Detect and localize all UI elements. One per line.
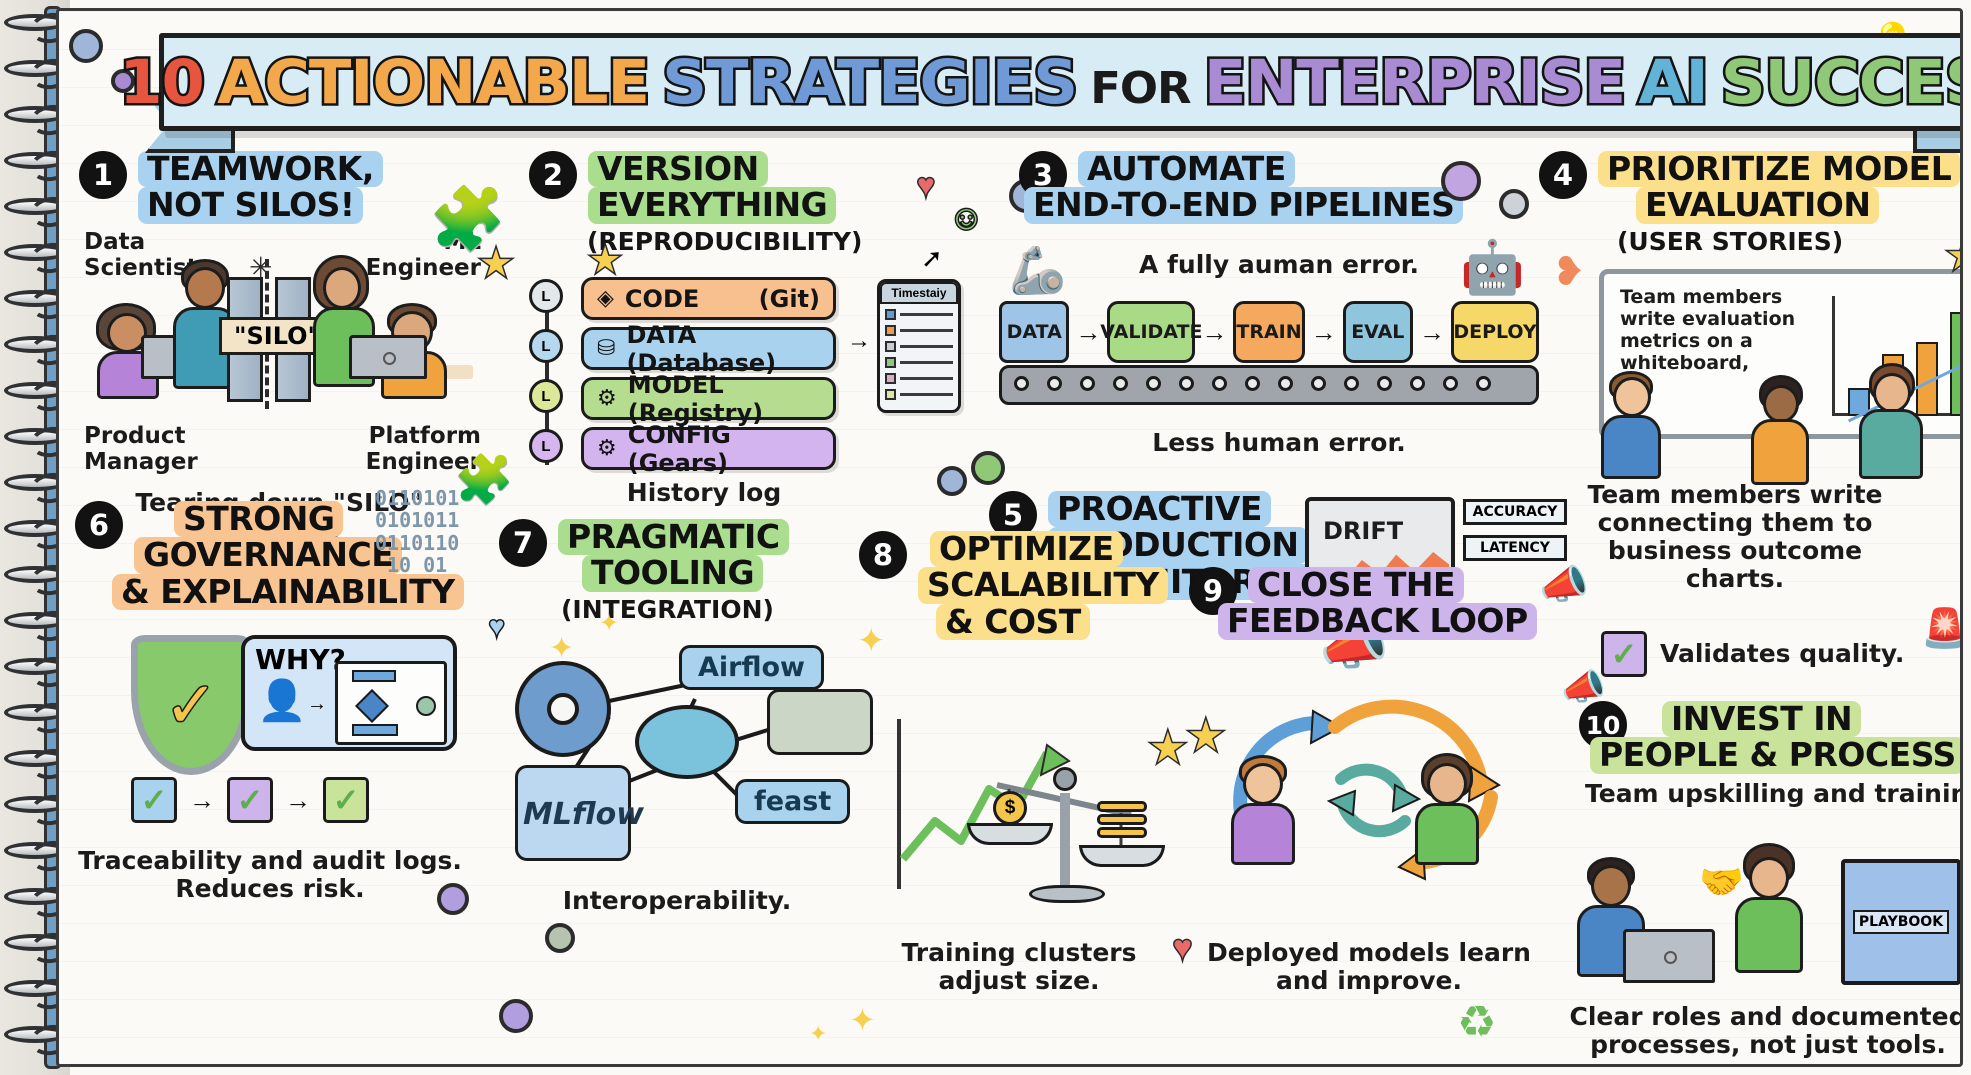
- tool-feast[interactable]: feast: [735, 779, 850, 824]
- section-2-header: 2 VERSION EVERYTHING: [529, 151, 949, 224]
- version-row-model-label: MODEL (Registry): [628, 371, 820, 427]
- audit-chain: ✓ → ✓ → ✓: [131, 777, 369, 823]
- section-1-header: 1 TEAMWORK, NOT SILOS!: [79, 151, 489, 224]
- gear-icon: [971, 451, 1005, 485]
- section-10-title-line-1: INVEST IN: [1662, 701, 1861, 737]
- flowchart-panel: [335, 661, 447, 745]
- version-row-model[interactable]: ⚙ MODEL (Registry): [581, 377, 836, 420]
- pipeline-stage-data[interactable]: DATA: [999, 301, 1069, 363]
- playbook-icon: PLAYBOOK: [1841, 859, 1961, 985]
- binary-line-4: 10 01: [387, 554, 459, 576]
- clock-icon: L: [529, 379, 563, 413]
- section-number-badge: 4: [1539, 151, 1587, 199]
- section-4-subtitle: (USER STORIES): [1617, 227, 1963, 256]
- whiteboard-text: Team members write evaluation metrics on…: [1620, 286, 1820, 374]
- title-word-enterprise: ENTERPRISE: [1203, 52, 1624, 113]
- section-9-header: 9 CLOSE THE FEEDBACK LOOP: [1189, 567, 1589, 640]
- person-icon: 👤: [257, 677, 307, 724]
- recycle-icon: ♻: [1457, 997, 1496, 1048]
- pipeline-stage-train[interactable]: TRAIN: [1233, 301, 1304, 363]
- binary-doodle: 0110101 0101011 0110110 10 01: [375, 487, 459, 577]
- arrow-icon: →: [1419, 317, 1445, 348]
- pipeline-stage-eval[interactable]: EVAL: [1343, 301, 1413, 363]
- section-2: 2 VERSION EVERYTHING (REPRODUCIBILITY) L…: [529, 151, 949, 501]
- shield-icon: ✓: [131, 635, 251, 775]
- handshake-icon: 🤝: [1699, 861, 1744, 903]
- section-number-badge: 8: [859, 531, 907, 579]
- section-number-badge: 2: [529, 151, 577, 199]
- section-10-title: INVEST IN PEOPLE & PROCESS: [1638, 701, 1963, 774]
- version-row-config[interactable]: ⚙ CONFIG (Gears): [581, 427, 836, 470]
- section-10-header: 10 INVEST IN PEOPLE & PROCESS: [1579, 701, 1963, 774]
- database-icon: ⛁: [597, 336, 615, 361]
- tool-airflow[interactable]: Airflow: [679, 645, 824, 690]
- section-8-header: 8 OPTIMIZE SCALABILITY & COST: [859, 531, 1239, 640]
- laptop-icon: [349, 335, 427, 379]
- section-4: 4 PRIORITIZE MODEL EVALUATION (USER STOR…: [1539, 151, 1963, 711]
- conveyor-belt: [999, 365, 1539, 405]
- clock-icon: L: [529, 279, 563, 313]
- banner-box: 10 ACTIONABLE STRATEGIES FOR ENTERPRISE …: [159, 33, 1963, 131]
- section-9-title-line-2: FEEDBACK LOOP: [1218, 603, 1537, 639]
- section-3-caption: Less human error.: [1059, 429, 1499, 457]
- section-3-header: 3 AUTOMATE END-TO-END PIPELINES: [1019, 151, 1539, 224]
- section-4-caption: Team members write connecting them to bu…: [1585, 481, 1885, 593]
- section-3-title: AUTOMATE END-TO-END PIPELINES: [1078, 151, 1463, 224]
- section-8-title-line-1: OPTIMIZE: [930, 531, 1123, 567]
- section-7-title-line-2: TOOLING: [582, 555, 763, 591]
- gear-icon: ⚙: [597, 436, 617, 461]
- clock-icon: L: [529, 329, 563, 363]
- explainability-panel: WHY? 👤 →: [241, 635, 457, 751]
- section-2-title-line-2: EVERYTHING: [588, 187, 836, 223]
- title-word-ai: AI: [1638, 52, 1707, 113]
- section-9: 9 CLOSE THE FEEDBACK LOOP: [1189, 567, 1589, 1017]
- section-4-validate-label: Validates quality.: [1660, 640, 1904, 668]
- clock-icon: L: [529, 429, 563, 463]
- section-8-title-line-2: SCALABILITY: [918, 567, 1168, 603]
- feedback-loop-illustration: [1209, 687, 1549, 887]
- section-7-subtitle: (INTEGRATION): [561, 595, 899, 624]
- version-timeline: L L L L: [529, 279, 575, 479]
- checkmark-icon: ✓: [323, 777, 369, 823]
- section-1-title-line-2: NOT SILOS!: [138, 187, 363, 223]
- gear-icon: [499, 999, 533, 1033]
- section-7: 7 PRAGMATIC TOOLING (INTEGRATION): [499, 519, 899, 999]
- pipeline: DATA → VALIDATE → TRAIN → EVAL → DEPLOY: [999, 301, 1539, 363]
- section-10-caption: Clear roles and documented processes, no…: [1553, 1003, 1963, 1059]
- section-4-header: 4 PRIORITIZE MODEL EVALUATION: [1539, 151, 1963, 224]
- section-8: 8 OPTIMIZE SCALABILITY & COST: [859, 531, 1239, 1011]
- cost-coin-icon: $: [993, 791, 1027, 825]
- section-3-note: A fully auman error.: [1139, 251, 1419, 279]
- arrow-icon: →: [1311, 317, 1337, 348]
- section-9-caption: Deployed models learn and improve.: [1189, 939, 1549, 995]
- version-row-code-label: CODE: [625, 285, 699, 313]
- cost-scale-illustration: $: [869, 689, 1209, 929]
- history-card: Timestaiy: [877, 279, 961, 413]
- section-2-caption: History log: [569, 479, 839, 507]
- teamwork-illustration: "SILO" ✳: [79, 259, 489, 419]
- robot-icon: 🤖: [1460, 237, 1525, 298]
- metric-chip-latency: LATENCY: [1463, 535, 1567, 561]
- title-word-for: FOR: [1090, 67, 1190, 111]
- section-6: 6 STRONG GOVERNANCE & EXPLAINABILITY 011…: [75, 501, 475, 1001]
- scale-pan-left: [967, 823, 1053, 845]
- monitor-label: DRIFT: [1323, 517, 1403, 545]
- paper-sheet: 10 ACTIONABLE STRATEGIES FOR ENTERPRISE …: [56, 8, 1963, 1067]
- section-10-title-line-2: PEOPLE & PROCESS: [1590, 737, 1963, 773]
- arrow-icon: →: [1201, 317, 1227, 348]
- section-number-badge: 7: [499, 519, 547, 567]
- validate-row: ✓ Validates quality.: [1601, 631, 1904, 677]
- git-icon: ◈: [597, 286, 614, 311]
- section-8-title: OPTIMIZE SCALABILITY & COST: [918, 531, 1168, 640]
- version-rows: ◈ CODE (Git) ⛁ DATA (Database) ⚙ MODEL (…: [581, 277, 836, 477]
- laptop-icon: [1623, 929, 1715, 983]
- section-1-title: TEAMWORK, NOT SILOS!: [138, 151, 383, 224]
- pipeline-stage-deploy[interactable]: DEPLOY: [1451, 301, 1539, 363]
- page-title: 10 ACTIONABLE STRATEGIES FOR ENTERPRISE …: [119, 52, 1963, 113]
- history-card-title: Timestaiy: [880, 282, 958, 304]
- database-icon: [767, 689, 873, 755]
- section-3: 3 AUTOMATE END-TO-END PIPELINES A fully …: [1019, 151, 1539, 451]
- gear-icon: ⚙: [597, 386, 617, 411]
- pipeline-stage-validate[interactable]: VALIDATE: [1107, 301, 1195, 363]
- version-row-data[interactable]: ⛁ DATA (Database): [581, 327, 836, 370]
- tool-mlflow[interactable]: MLflow: [523, 797, 644, 832]
- version-row-code[interactable]: ◈ CODE (Git): [581, 277, 836, 320]
- section-10-subtitle: Team upskilling and training.: [1585, 780, 1963, 808]
- section-6-title-line-1: STRONG: [174, 501, 343, 537]
- version-row-data-label: DATA (Database): [626, 321, 820, 377]
- tooling-graph: Airflow MLflow feast: [499, 639, 899, 869]
- section-9-title-line-1: CLOSE THE: [1248, 567, 1464, 603]
- scale-pan-right: [1079, 845, 1165, 867]
- robot-arm-icon: 🦾: [1009, 243, 1066, 298]
- section-7-title: PRAGMATIC TOOLING: [558, 519, 789, 592]
- section-1: 1 TEAMWORK, NOT SILOS! Data Scientist ML…: [79, 151, 489, 501]
- why-label: WHY?: [255, 643, 346, 676]
- section-number-badge: 6: [75, 501, 123, 549]
- metric-chip-accuracy: ACCURACY: [1463, 499, 1567, 525]
- binary-line-2: 0101011: [375, 509, 459, 531]
- section-5-title-line-1: PROACTIVE: [1048, 491, 1271, 527]
- smiley-icon: ☺: [949, 199, 984, 238]
- binary-line-3: 0110110: [375, 532, 459, 554]
- version-row-code-paren: (Git): [759, 285, 820, 313]
- gear-icon: [69, 29, 103, 63]
- title-word-strategies: STRATEGIES: [662, 52, 1077, 113]
- role-platform-engineer: Platform Engineer: [366, 423, 481, 475]
- playbook-label: PLAYBOOK: [1853, 910, 1949, 934]
- section-10: 10 INVEST IN PEOPLE & PROCESS Team upski…: [1579, 701, 1963, 1061]
- section-2-title: VERSION EVERYTHING: [588, 151, 836, 224]
- section-4-title: PRIORITIZE MODEL EVALUATION: [1598, 151, 1960, 224]
- section-7-caption: Interoperability.: [517, 887, 837, 915]
- role-product-manager: Product Manager: [84, 423, 198, 475]
- arrow-icon: →: [285, 785, 311, 816]
- coin-stack-icon: [1097, 801, 1147, 838]
- checkmark-icon: ✓: [227, 777, 273, 823]
- section-3-title-line-2: END-TO-END PIPELINES: [1024, 187, 1463, 223]
- cloud-icon: [635, 705, 739, 779]
- version-row-config-label: CONFIG (Gears): [628, 421, 820, 477]
- section-number-badge: 1: [79, 151, 127, 199]
- arrow-icon: →: [189, 785, 215, 816]
- section-6-title-line-3: & EXPLAINABILITY: [112, 574, 464, 610]
- section-7-title-line-1: PRAGMATIC: [558, 519, 789, 555]
- title-word-10: 10: [119, 52, 204, 113]
- section-6-caption: Traceability and audit logs. Reduces ris…: [75, 847, 465, 903]
- section-6-title-line-2: GOVERNANCE: [134, 537, 402, 573]
- section-9-title: CLOSE THE FEEDBACK LOOP: [1248, 567, 1537, 640]
- section-8-title-line-3: & COST: [936, 604, 1090, 640]
- section-2-subtitle: (REPRODUCIBILITY): [587, 227, 949, 256]
- sparkle-icon: ✦: [809, 1021, 827, 1047]
- binary-line-1: 0110101: [375, 487, 459, 509]
- infographic-page: 10 ACTIONABLE STRATEGIES FOR ENTERPRISE …: [0, 0, 1971, 1075]
- section-2-title-line-1: VERSION: [588, 151, 768, 187]
- section-4-title-line-1: PRIORITIZE MODEL: [1598, 151, 1960, 187]
- people-process-illustration: 🤝 PLAYBOOK: [1579, 841, 1963, 1021]
- title-word-actionable: ACTIONABLE: [217, 52, 649, 113]
- section-1-title-line-1: TEAMWORK,: [138, 151, 383, 187]
- checkmark-icon: ✓: [1601, 631, 1647, 677]
- section-4-title-line-2: EVALUATION: [1636, 187, 1879, 223]
- checkmark-icon: ✓: [131, 777, 177, 823]
- section-3-title-line-1: AUTOMATE: [1078, 151, 1295, 187]
- section-7-header: 7 PRAGMATIC TOOLING: [499, 519, 899, 592]
- arrow-icon: →: [1075, 317, 1101, 348]
- section-8-caption: Training clusters adjust size.: [849, 939, 1189, 995]
- title-banner: 10 ACTIONABLE STRATEGIES FOR ENTERPRISE …: [159, 33, 1963, 143]
- title-word-success: SUCCESS: [1720, 52, 1963, 113]
